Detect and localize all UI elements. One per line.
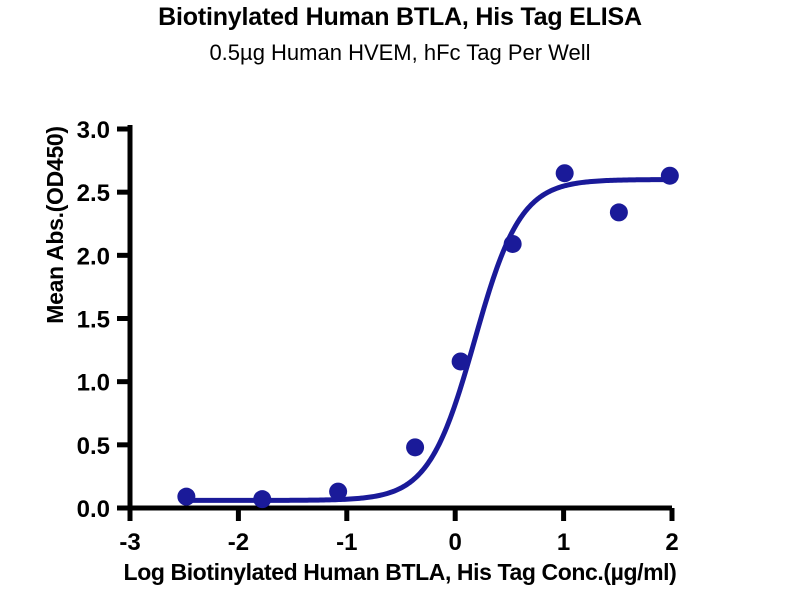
fit-curve	[186, 180, 669, 501]
sigmoid-fit-line	[186, 180, 669, 501]
y-tick-label: 2.0	[77, 243, 110, 270]
data-point-marker	[177, 488, 195, 506]
y-tick-label: 1.5	[77, 307, 110, 334]
x-tick-label: 2	[665, 529, 678, 556]
data-point-marker	[504, 235, 522, 253]
x-tick-label: 0	[449, 529, 462, 556]
x-tick-label: 1	[557, 529, 570, 556]
data-point-marker	[329, 483, 347, 501]
plot-area: 0.00.51.01.52.02.53.0-3-2-1012	[0, 0, 800, 600]
y-tick-label: 2.5	[77, 180, 110, 207]
y-tick-label: 1.0	[77, 370, 110, 397]
x-tick-label: -1	[336, 529, 357, 556]
y-tick-label: 0.5	[77, 433, 110, 460]
x-tick-label: -2	[228, 529, 249, 556]
elisa-chart-figure: Biotinylated Human BTLA, His Tag ELISA 0…	[0, 0, 800, 600]
data-point-marker	[661, 167, 679, 185]
data-point-marker	[610, 203, 628, 221]
data-point-marker	[452, 352, 470, 370]
y-tick-label: 3.0	[77, 117, 110, 144]
x-tick-label: -3	[119, 529, 140, 556]
data-point-marker	[406, 438, 424, 456]
y-tick-label: 0.0	[77, 496, 110, 523]
data-point-marker	[556, 164, 574, 182]
data-points	[177, 164, 678, 508]
data-point-marker	[253, 490, 271, 508]
axis-ticks	[117, 129, 672, 521]
